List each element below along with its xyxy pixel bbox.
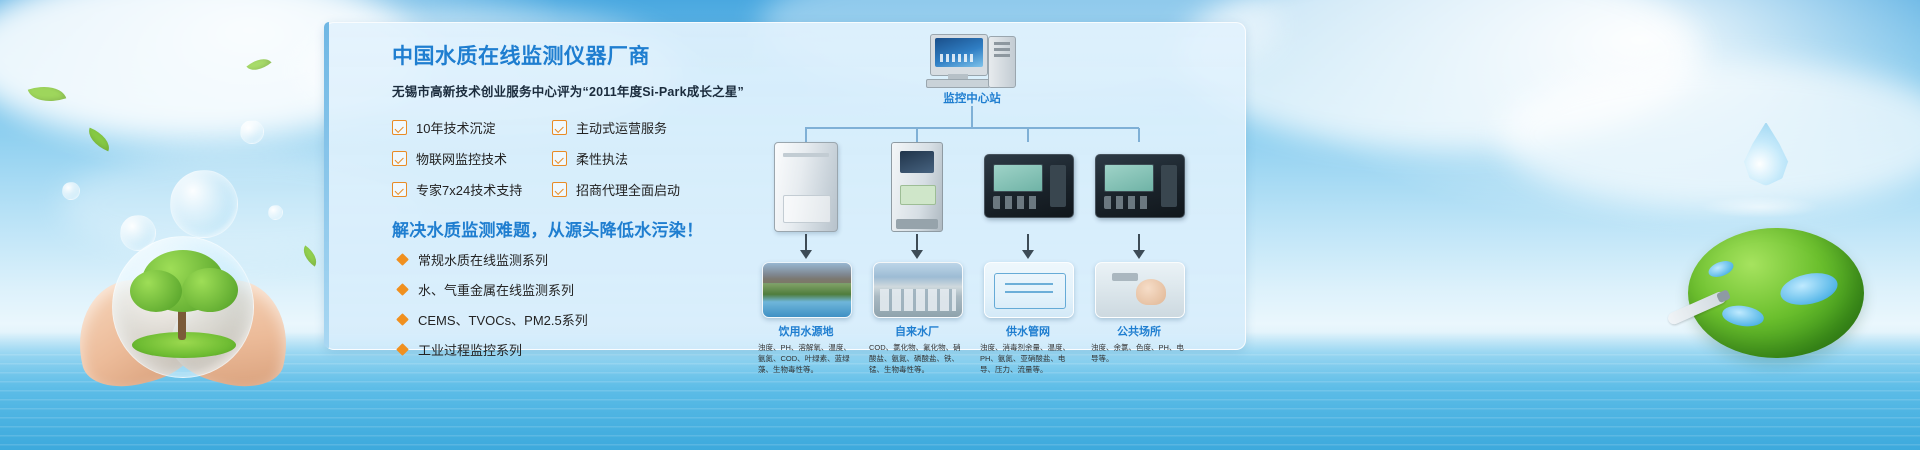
panel-controller-device [980,142,1076,230]
scenario-description: 浊度、PH、溶解氧、温度、氨氮、COD、叶绿素、蓝绿藻、生物毒性等。 [758,343,854,376]
water-plant-photo [873,262,963,318]
connector-bus [805,127,1139,129]
cloud-decoration [1500,60,1920,210]
product-line-label: 常规水质在线监测系列 [418,250,548,269]
device-body [984,154,1074,218]
scenario-title: 自来水厂 [873,323,961,339]
connector-line [916,128,918,142]
product-line-label: 水、气重金属在线监测系列 [418,280,574,299]
device-side-panel [1161,165,1177,207]
product-line-label: CEMS、TVOCs、PM2.5系列 [418,310,588,329]
feature-item[interactable]: 主动式运营服务 [552,118,712,137]
feature-label: 10年技术沉淀 [416,118,495,137]
product-line-item[interactable]: 常规水质在线监测系列 [398,250,588,269]
green-earth-illustration [1688,228,1864,362]
hands-holding-tree-illustration [70,228,300,388]
diamond-bullet-icon [396,253,409,266]
page-subtitle: 无锡市高新技术创业服务中心评为“2011年度Si-Park成长之星” [392,81,722,100]
feature-label: 招商代理全面启动 [576,180,680,199]
connector-line [1027,128,1029,142]
device-buttons [1104,196,1152,209]
device-base [896,219,938,229]
feature-item[interactable]: 物联网监控技术 [392,149,544,168]
feature-label: 物联网监控技术 [416,149,507,168]
scenario-description: COD、氯化物、氟化物、硝酸盐、氨氮、磷酸盐、铁、锰、生物毒性等。 [869,343,965,376]
pipe-network-photo [984,262,1074,318]
scenario-description: 浊度、余氯、色度、PH、电导等。 [1091,343,1187,365]
checkbox-icon [552,182,567,197]
connector-line [971,106,973,128]
product-line-label: 工业过程监控系列 [418,340,522,359]
checkbox-icon [392,182,407,197]
product-line-item[interactable]: 工业过程监控系列 [398,340,588,359]
product-line-list: 常规水质在线监测系列 水、气重金属在线监测系列 CEMS、TVOCs、PM2.5… [398,250,588,359]
device-slot [783,153,829,157]
feature-item[interactable]: 柔性执法 [552,149,712,168]
keyboard-shape [926,79,990,88]
product-line-item[interactable]: CEMS、TVOCs、PM2.5系列 [398,310,588,329]
feature-item[interactable]: 10年技术沉淀 [392,118,544,137]
device-body [891,142,943,232]
checkbox-icon [552,151,567,166]
monitor-shape [930,34,988,76]
connector-line [805,128,807,142]
device-lcd [1104,164,1154,192]
device-body [1095,154,1185,218]
headline-block: 中国水质在线监测仪器厂商 无锡市高新技术创业服务中心评为“2011年度Si-Pa… [392,44,722,100]
monitoring-center-label: 监控中心站 [892,90,1052,106]
device-side-panel [1050,165,1066,207]
down-arrow-icon [911,234,923,260]
device-panel [783,195,831,223]
scenario-card[interactable]: 饮用水源地 浊度、PH、溶解氧、温度、氨氮、COD、叶绿素、蓝绿藻、生物毒性等。 [762,262,850,376]
system-diagram: 监控中心站 [740,28,1240,328]
feature-list: 10年技术沉淀 主动式运营服务 物联网监控技术 柔性执法 专家7x24技术支持 … [392,118,712,199]
banner-stage: 中国水质在线监测仪器厂商 无锡市高新技术创业服务中心评为“2011年度Si-Pa… [0,0,1920,450]
device-display [900,151,934,173]
checkbox-icon [552,120,567,135]
scenario-title: 公共场所 [1095,323,1183,339]
device-body [774,142,838,232]
section-title: 解决水质监测难题，从源头降低水污染！ [392,216,703,241]
scenario-title: 饮用水源地 [762,323,850,339]
down-arrow-icon [1133,234,1145,260]
checkbox-icon [392,151,407,166]
panel-controller-device-2 [1091,142,1187,230]
product-line-item[interactable]: 水、气重金属在线监测系列 [398,280,588,299]
down-arrow-icon [1022,234,1034,260]
feature-item[interactable]: 招商代理全面启动 [552,180,712,199]
diamond-bullet-icon [396,343,409,356]
feature-label: 主动式运营服务 [576,118,667,137]
diamond-bullet-icon [396,283,409,296]
bubble-decoration [62,182,80,200]
device-buttons [993,196,1041,209]
tree-canopy [182,268,238,312]
down-arrow-icon [800,234,812,260]
public-tap-photo [1095,262,1185,318]
scenario-card[interactable]: 供水管网 浊度、消毒剂余量、温度、PH、氨氮、亚硝酸盐、电导、压力、流量等。 [984,262,1072,376]
river-source-photo [762,262,852,318]
feature-item[interactable]: 专家7x24技术支持 [392,180,544,199]
device-reagent-window [900,185,936,205]
scenario-card[interactable]: 公共场所 浊度、余氯、色度、PH、电导等。 [1095,262,1183,365]
page-title: 中国水质在线监测仪器厂商 [392,44,722,69]
connector-line [1138,128,1140,142]
monitor-screen [935,38,983,67]
feature-label: 专家7x24技术支持 [416,180,522,199]
tree-canopy [130,270,182,312]
scenario-description: 浊度、消毒剂余量、温度、PH、氨氮、亚硝酸盐、电导、压力、流量等。 [980,343,1076,376]
bubble-decoration [268,205,283,220]
feature-label: 柔性执法 [576,149,628,168]
bubble-decoration [240,120,264,144]
panel-left-accent [324,22,329,348]
diamond-bullet-icon [396,313,409,326]
cabinet-analyzer-device [758,142,854,230]
server-tower-shape [988,36,1016,88]
scenario-title: 供水管网 [984,323,1072,339]
column-analyzer-device [869,142,965,230]
checkbox-icon [392,120,407,135]
device-lcd [993,164,1043,192]
computer-server-icon [930,34,1014,86]
scenario-card[interactable]: 自来水厂 COD、氯化物、氟化物、硝酸盐、氨氮、磷酸盐、铁、锰、生物毒性等。 [873,262,961,376]
splash-decoration [1700,196,1820,218]
